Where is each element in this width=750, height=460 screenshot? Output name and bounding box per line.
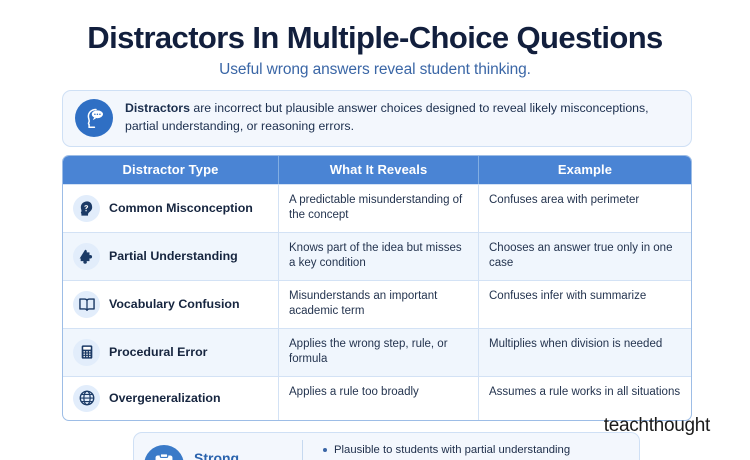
example-text: Assumes a rule works in all situations — [489, 385, 681, 401]
example-text: Chooses an answer true only in one case — [489, 241, 681, 272]
teachthought-logo: teachthought — [604, 415, 710, 437]
head-thought-bubble-icon — [75, 99, 113, 137]
reveals-cell: Knows part of the idea but misses a key … — [278, 233, 478, 280]
example-cell: Confuses infer with summarize — [478, 281, 691, 328]
clipboard-checklist-icon — [144, 445, 184, 460]
checklist-divider — [302, 440, 303, 460]
table-row: Overgeneralization Applies a rule too br… — [63, 376, 691, 420]
example-cell: Multiplies when division is needed — [478, 329, 691, 376]
puzzle-piece-icon — [73, 243, 100, 270]
page-title: Distractors In Multiple-Choice Questions — [0, 22, 750, 55]
example-cell: Chooses an answer true only in one case — [478, 233, 691, 280]
page-header: Distractors In Multiple-Choice Questions… — [0, 0, 750, 79]
example-text: Confuses infer with summarize — [489, 289, 681, 305]
calculator-icon — [73, 339, 100, 366]
table-row: Partial Understanding Knows part of the … — [63, 232, 691, 280]
reveals-text: Applies the wrong step, rule, or formula — [289, 337, 468, 368]
reveals-text: A predictable misunderstanding of the co… — [289, 193, 468, 224]
intro-rest: are incorrect but plausible answer choic… — [125, 101, 649, 132]
page-subtitle: Useful wrong answers reveal student thin… — [0, 61, 750, 79]
distractor-type-cell: Common Misconception — [63, 185, 278, 232]
example-cell: Confuses area with perimeter — [478, 185, 691, 232]
distractor-type-label: Overgeneralization — [109, 391, 221, 406]
example-text: Multiplies when division is needed — [489, 337, 681, 353]
globe-icon — [73, 385, 100, 412]
head-question-mark-icon — [73, 195, 100, 222]
reveals-text: Knows part of the idea but misses a key … — [289, 241, 468, 272]
open-book-icon — [73, 291, 100, 318]
column-header-what-it-reveals: What It Reveals — [278, 156, 478, 184]
table-row: Vocabulary Confusion Misunderstands an i… — [63, 280, 691, 328]
distractor-type-label: Partial Understanding — [109, 249, 238, 264]
column-header-distractor-type: Distractor Type — [63, 156, 278, 184]
reveals-cell: Applies the wrong step, rule, or formula — [278, 329, 478, 376]
intro-text: Distractors are incorrect but plausible … — [125, 100, 679, 135]
table-row: Procedural Error Applies the wrong step,… — [63, 328, 691, 376]
example-text: Confuses area with perimeter — [489, 193, 681, 209]
table-row: Common Misconception A predictable misun… — [63, 184, 691, 232]
distractor-type-label: Vocabulary Confusion — [109, 297, 240, 312]
reveals-cell: Applies a rule too broadly — [278, 377, 478, 420]
checklist-item: Plausible to students with partial under… — [321, 442, 629, 459]
distractor-type-label: Common Misconception — [109, 201, 253, 216]
reveals-cell: Misunderstands an important academic ter… — [278, 281, 478, 328]
reveals-text: Misunderstands an important academic ter… — [289, 289, 468, 320]
column-header-example: Example — [478, 156, 691, 184]
distractor-type-cell: Partial Understanding — [63, 233, 278, 280]
reveals-text: Applies a rule too broadly — [289, 385, 468, 401]
reveals-cell: A predictable misunderstanding of the co… — [278, 185, 478, 232]
distractor-type-cell: Procedural Error — [63, 329, 278, 376]
distractor-type-cell: Vocabulary Confusion — [63, 281, 278, 328]
distractor-table: Distractor Type What It Reveals Example … — [62, 155, 692, 421]
checklist-items: Plausible to students with partial under… — [321, 440, 629, 460]
distractor-type-cell: Overgeneralization — [63, 377, 278, 420]
example-cell: Assumes a rule works in all situations — [478, 377, 691, 420]
distractor-type-label: Procedural Error — [109, 345, 207, 360]
intro-callout: Distractors are incorrect but plausible … — [62, 90, 692, 147]
intro-lead: Distractors — [125, 101, 190, 115]
table-header-row: Distractor Type What It Reveals Example — [63, 156, 691, 184]
checklist-title: Strong Distractor Checklist — [194, 450, 290, 460]
strong-distractor-checklist: Strong Distractor Checklist Plausible to… — [133, 432, 640, 460]
